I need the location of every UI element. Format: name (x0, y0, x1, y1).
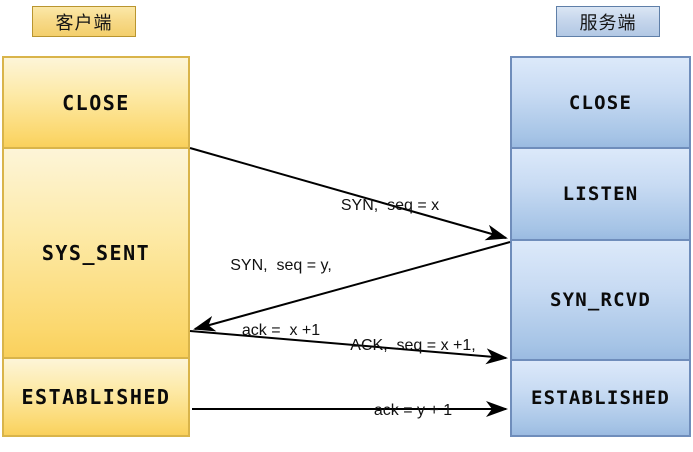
client-state-label: SYS_SENT (42, 241, 150, 265)
tcp-handshake-diagram: 客户端 服务端 CLOSE SYS_SENT ESTABLISHED CLOSE… (0, 0, 693, 452)
server-state-close: CLOSE (510, 56, 691, 148)
server-role-tag: 服务端 (556, 6, 660, 37)
server-state-established: ESTABLISHED (510, 360, 691, 437)
server-state-syn-rcvd: SYN_RCVD (510, 240, 691, 360)
server-state-listen: LISTEN (510, 148, 691, 240)
client-state-close: CLOSE (2, 56, 190, 148)
server-state-label: CLOSE (569, 92, 632, 114)
client-state-label: ESTABLISHED (22, 385, 171, 409)
client-state-label: CLOSE (62, 91, 130, 115)
client-state-established: ESTABLISHED (2, 358, 190, 437)
server-state-label: ESTABLISHED (531, 387, 670, 409)
server-state-column: CLOSE LISTEN SYN_RCVD ESTABLISHED (510, 56, 691, 437)
client-state-sys-sent: SYS_SENT (2, 148, 190, 358)
client-role-label: 客户端 (56, 9, 113, 35)
server-role-label: 服务端 (580, 9, 637, 35)
client-role-tag: 客户端 (32, 6, 136, 37)
server-state-label: LISTEN (563, 183, 639, 205)
message-line-1: ACK, seq = x +1, (318, 335, 508, 357)
message-line-1: SYN, seq = y, (196, 255, 366, 277)
server-state-label: SYN_RCVD (550, 289, 651, 311)
client-state-column: CLOSE SYS_SENT ESTABLISHED (2, 56, 190, 437)
message-label-data-transfer: 输出传输 (250, 418, 450, 452)
